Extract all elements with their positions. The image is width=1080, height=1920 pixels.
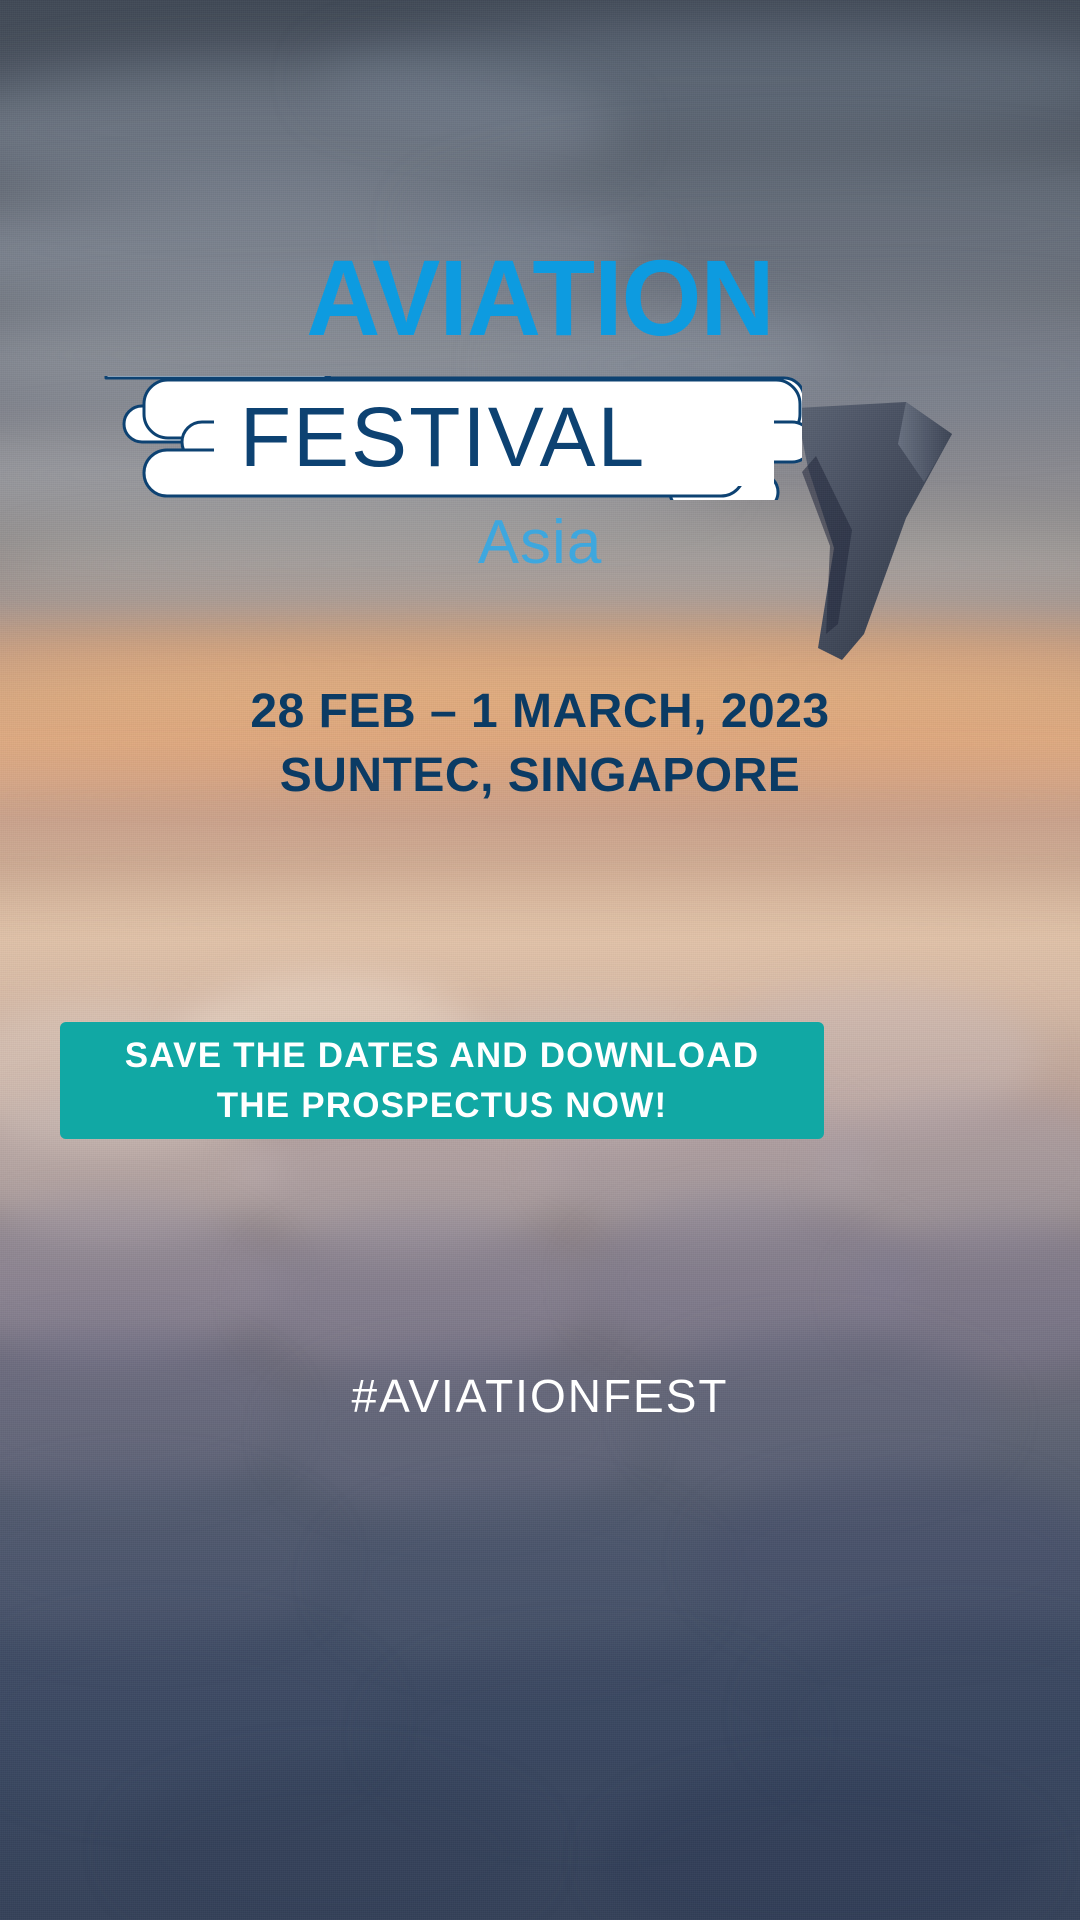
poster-canvas: AVIATION FESTIVAL Asia 28 FEB – 1 MARCH, [0, 0, 1080, 1920]
download-prospectus-label: SAVE THE DATES AND DOWNLOAD THE PROSPECT… [92, 1031, 792, 1131]
event-details: 28 FEB – 1 MARCH, 2023 SUNTEC, SINGAPORE [0, 680, 1080, 808]
brand-region-asia: Asia [0, 512, 1080, 574]
event-venue: SUNTEC, SINGAPORE [0, 744, 1080, 808]
download-prospectus-button[interactable]: SAVE THE DATES AND DOWNLOAD THE PROSPECT… [60, 1022, 824, 1139]
brand-title-festival: FESTIVAL [84, 394, 802, 480]
poster-content: AVIATION FESTIVAL Asia 28 FEB – 1 MARCH, [0, 0, 1080, 1920]
brand-title-aviation: AVIATION [27, 244, 1053, 352]
social-hashtag: #AVIATIONFEST [0, 1373, 1080, 1419]
event-dates: 28 FEB – 1 MARCH, 2023 [250, 685, 829, 738]
festival-band: FESTIVAL [84, 376, 802, 500]
